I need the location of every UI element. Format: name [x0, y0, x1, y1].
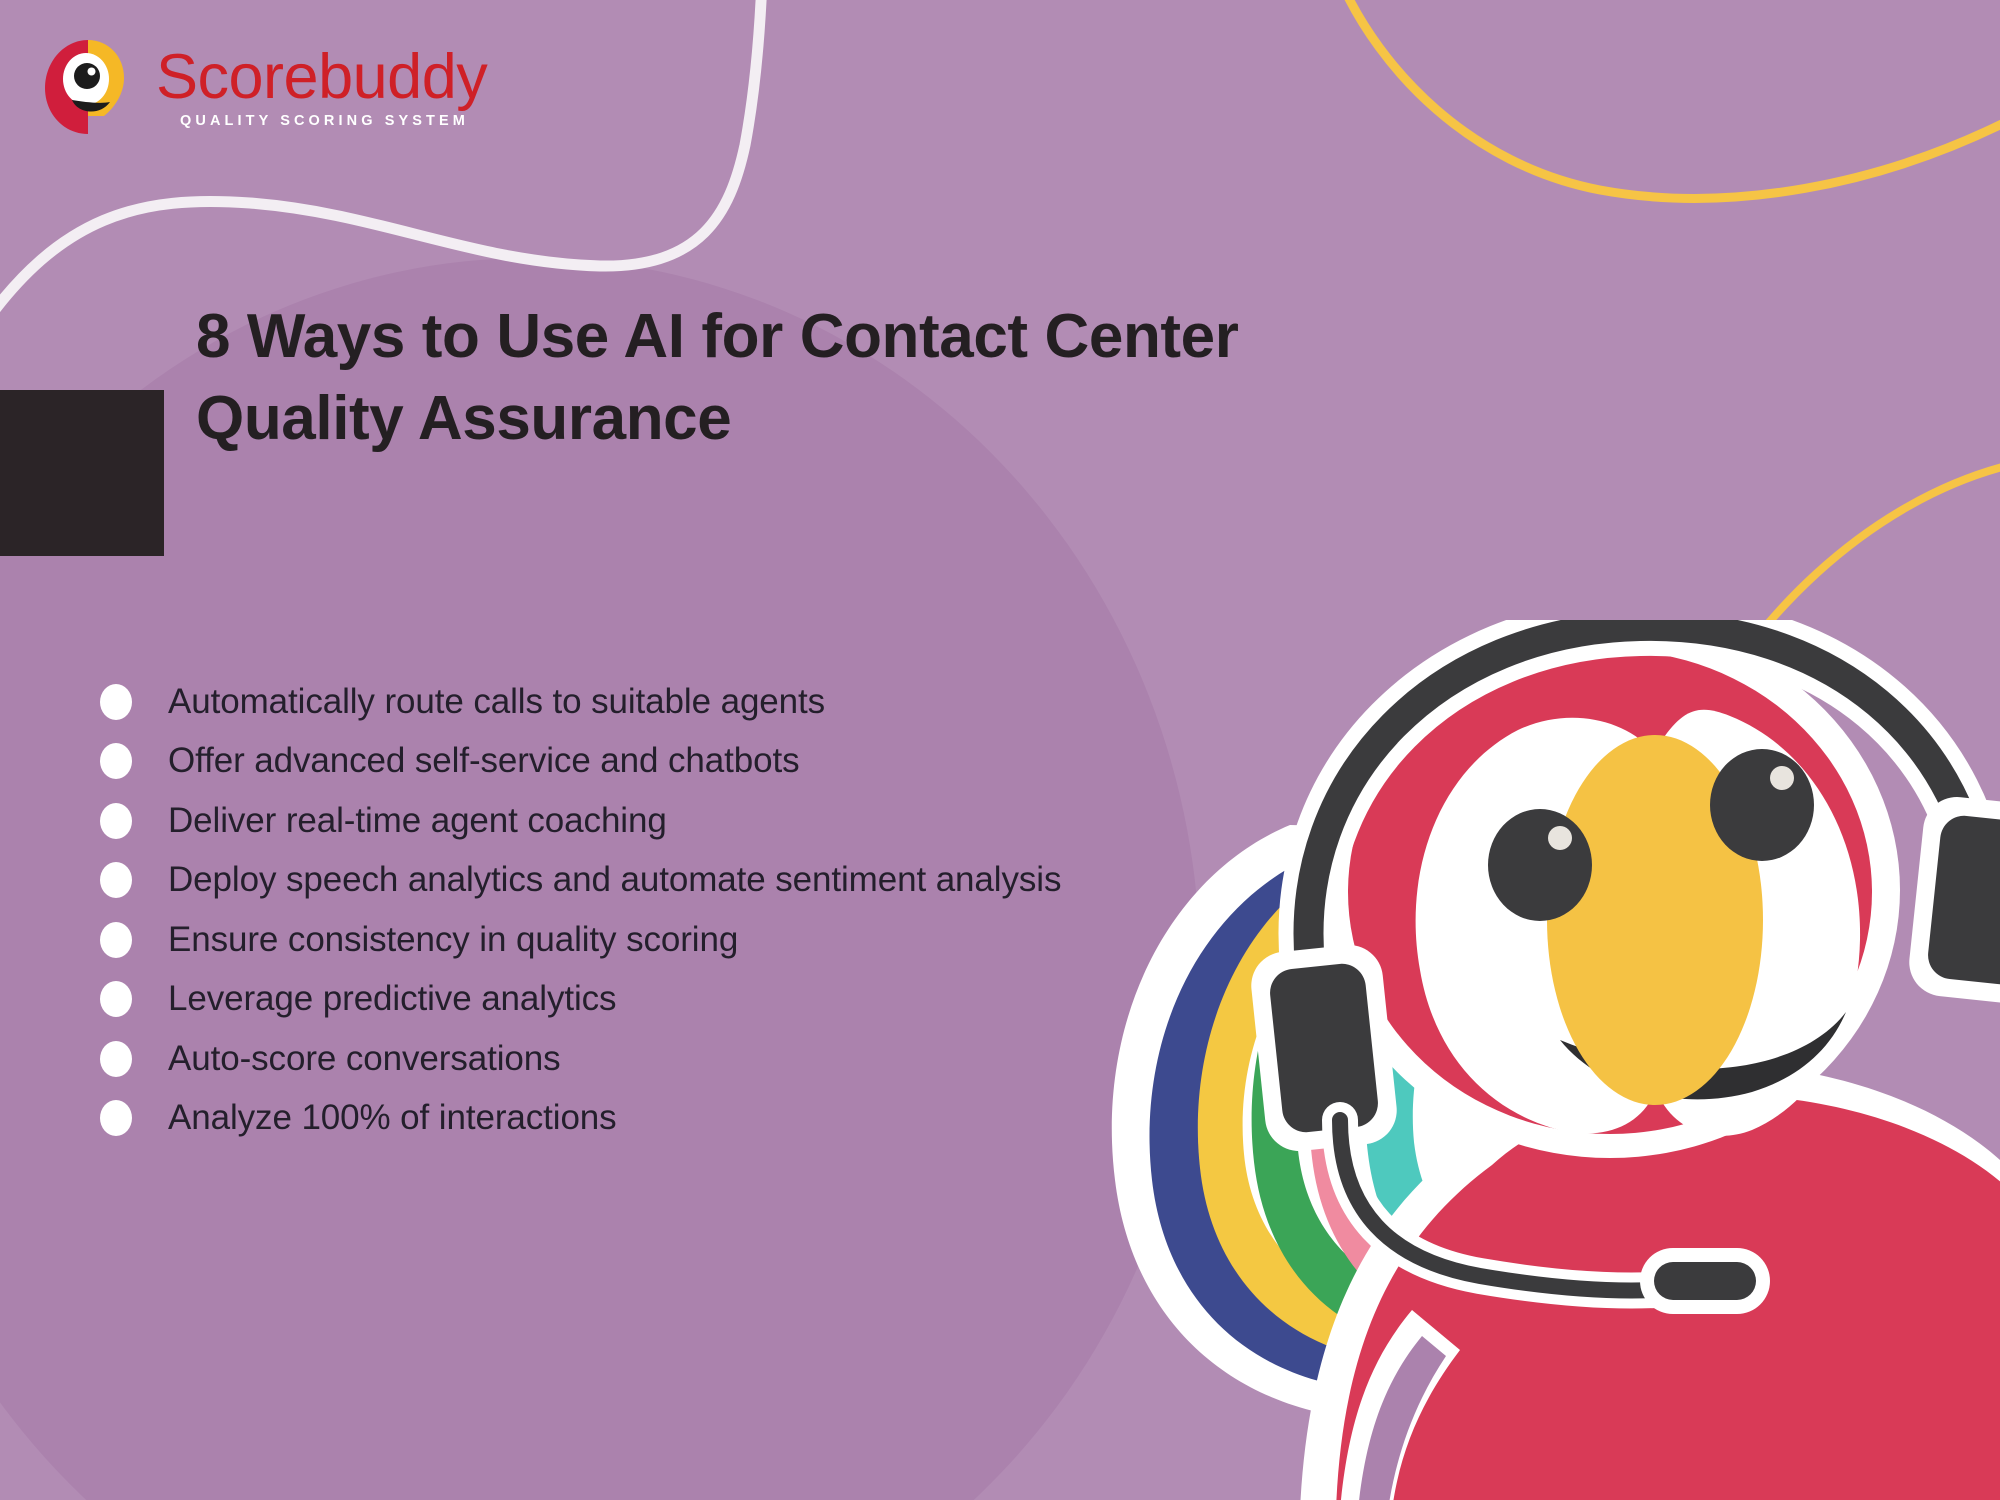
parrot-mascot-with-headset: [1040, 620, 2000, 1500]
brand-tagline: QUALITY SCORING SYSTEM: [180, 113, 487, 129]
brand-logo[interactable]: Scorebuddy QUALITY SCORING SYSTEM: [34, 32, 487, 140]
bullet-dot-icon: [100, 1100, 132, 1136]
list-item-label: Auto-score conversations: [168, 1039, 561, 1079]
list-item-label: Deploy speech analytics and automate sen…: [168, 860, 1061, 900]
list-item-label: Offer advanced self-service and chatbots: [168, 741, 800, 781]
list-item-label: Analyze 100% of interactions: [168, 1098, 617, 1138]
yellow-arc-top-right: [1340, 0, 2000, 198]
page-title: 8 Ways to Use AI for Contact Center Qual…: [196, 296, 1456, 460]
bullet-dot-icon: [100, 743, 132, 779]
list-item-label: Automatically route calls to suitable ag…: [168, 682, 825, 722]
bullet-dot-icon: [100, 922, 132, 958]
bullet-dot-icon: [100, 1041, 132, 1077]
bullet-dot-icon: [100, 981, 132, 1017]
list-item-label: Deliver real-time agent coaching: [168, 801, 667, 841]
slide-canvas: Scorebuddy QUALITY SCORING SYSTEM 8 Ways…: [0, 0, 2000, 1500]
dark-square-accent: [0, 390, 164, 556]
bullet-dot-icon: [100, 684, 132, 720]
parrot-head-icon: [34, 32, 142, 140]
list-item-label: Ensure consistency in quality scoring: [168, 920, 738, 960]
mascot-eye-left: [1488, 809, 1592, 921]
list-item-label: Leverage predictive analytics: [168, 979, 616, 1019]
bullet-dot-icon: [100, 862, 132, 898]
brand-wordmark: Scorebuddy: [156, 47, 487, 109]
mascot-eye-right: [1710, 749, 1814, 861]
bullet-dot-icon: [100, 803, 132, 839]
